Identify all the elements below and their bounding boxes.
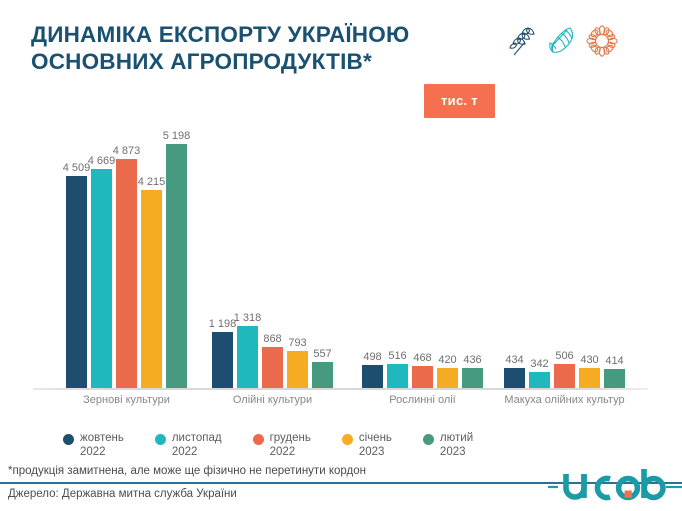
bar[interactable] [262, 347, 283, 388]
bar[interactable] [287, 351, 308, 388]
legend-color-dot [63, 434, 74, 445]
axis-baseline [33, 388, 648, 390]
sunflower-icon [586, 24, 618, 62]
bar-value-label: 4 669 [88, 155, 116, 167]
legend-item[interactable]: січень 2023 [342, 432, 392, 459]
bar[interactable] [554, 364, 575, 388]
bar-value-label: 516 [388, 350, 406, 362]
bar-item[interactable]: 498 [362, 365, 383, 388]
bar-item[interactable]: 868 [262, 347, 283, 388]
bar-group-bars: 1 1981 318868793557 [212, 326, 333, 388]
legend-label: лютий 2023 [440, 432, 473, 459]
bar-value-label: 793 [288, 337, 306, 349]
bar-item[interactable]: 430 [579, 368, 600, 388]
bar-value-label: 557 [313, 348, 331, 360]
page-title: ДИНАМІКА ЕКСПОРТУ УКРАЇНОЮ ОСНОВНИХ АГРО… [31, 21, 501, 75]
bar[interactable] [166, 144, 187, 388]
bar-item[interactable]: 1 198 [212, 332, 233, 388]
bar-chart-plot: 4 5094 6694 8734 2155 198Зернові культур… [0, 100, 682, 390]
bar-item[interactable]: 420 [437, 368, 458, 388]
bar-value-label: 5 198 [163, 130, 191, 142]
legend-item[interactable]: листопад 2022 [155, 432, 222, 459]
category-label: Рослинні олії [389, 394, 455, 407]
legend-label: січень 2023 [359, 432, 392, 459]
wheat-icon [508, 24, 538, 62]
bar[interactable] [387, 364, 408, 388]
bar-value-label: 434 [505, 354, 523, 366]
bar-value-label: 420 [438, 354, 456, 366]
bar-value-label: 4 509 [63, 162, 91, 174]
bar-item[interactable]: 342 [529, 372, 550, 388]
bar[interactable] [91, 169, 112, 388]
bar-value-label: 468 [413, 352, 431, 364]
legend-color-dot [155, 434, 166, 445]
bar-item[interactable]: 414 [604, 369, 625, 388]
bar[interactable] [212, 332, 233, 388]
bar-item[interactable]: 4 669 [91, 169, 112, 388]
bar-value-label: 1 318 [234, 312, 262, 324]
bar[interactable] [604, 369, 625, 388]
bar[interactable] [362, 365, 383, 388]
legend-color-dot [423, 434, 434, 445]
legend-item[interactable]: лютий 2023 [423, 432, 473, 459]
legend-label: грудень 2022 [270, 432, 311, 459]
category-label: Макуха олійних культур [504, 394, 624, 407]
bar-value-label: 4 215 [138, 176, 166, 188]
category-label: Зернові культури [83, 394, 170, 407]
ucab-logo[interactable] [548, 465, 682, 506]
bar-item[interactable]: 434 [504, 368, 525, 388]
bar-group-bars: 4 5094 6694 8734 2155 198 [66, 144, 187, 388]
bar-item[interactable]: 793 [287, 351, 308, 388]
bar-item[interactable]: 4 873 [116, 159, 137, 388]
bar-value-label: 868 [263, 333, 281, 345]
bar-item[interactable]: 436 [462, 368, 483, 388]
legend-label: жовтень 2022 [80, 432, 124, 459]
legend-item[interactable]: грудень 2022 [253, 432, 311, 459]
category-label: Олійні культури [233, 394, 312, 407]
corn-icon [547, 24, 577, 62]
bar-item[interactable]: 5 198 [166, 144, 187, 388]
bar-value-label: 1 198 [209, 318, 237, 330]
legend-label: листопад 2022 [172, 432, 222, 459]
bar-item[interactable]: 557 [312, 362, 333, 388]
bar-item[interactable]: 516 [387, 364, 408, 388]
bar[interactable] [412, 366, 433, 388]
legend-color-dot [253, 434, 264, 445]
bar-value-label: 4 873 [113, 145, 141, 157]
bar[interactable] [579, 368, 600, 388]
bar[interactable] [312, 362, 333, 388]
chart-legend: жовтень 2022листопад 2022грудень 2022січ… [63, 432, 473, 459]
bar-item[interactable]: 468 [412, 366, 433, 388]
source-text: Джерело: Державна митна служба України [8, 487, 237, 501]
bar[interactable] [66, 176, 87, 388]
bar-value-label: 342 [530, 358, 548, 370]
bar[interactable] [237, 326, 258, 388]
bar[interactable] [437, 368, 458, 388]
bar-item[interactable]: 506 [554, 364, 575, 388]
bar[interactable] [504, 368, 525, 388]
bar[interactable] [462, 368, 483, 388]
bar-item[interactable]: 4 215 [141, 190, 162, 388]
bar-item[interactable]: 1 318 [237, 326, 258, 388]
bar-value-label: 506 [555, 350, 573, 362]
bar-item[interactable]: 4 509 [66, 176, 87, 388]
bar-value-label: 498 [363, 351, 381, 363]
bar-value-label: 436 [463, 354, 481, 366]
bar-group-bars: 498516468420436 [362, 364, 483, 388]
bar[interactable] [141, 190, 162, 388]
legend-color-dot [342, 434, 353, 445]
legend-item[interactable]: жовтень 2022 [63, 432, 124, 459]
bar-group-bars: 434342506430414 [504, 364, 625, 388]
bar-value-label: 430 [580, 354, 598, 366]
bar-value-label: 414 [605, 355, 623, 367]
bar[interactable] [529, 372, 550, 388]
agro-icon-group [508, 24, 618, 62]
bar[interactable] [116, 159, 137, 388]
footnote: *продукція замитнена, але може ще фізичн… [8, 464, 366, 478]
